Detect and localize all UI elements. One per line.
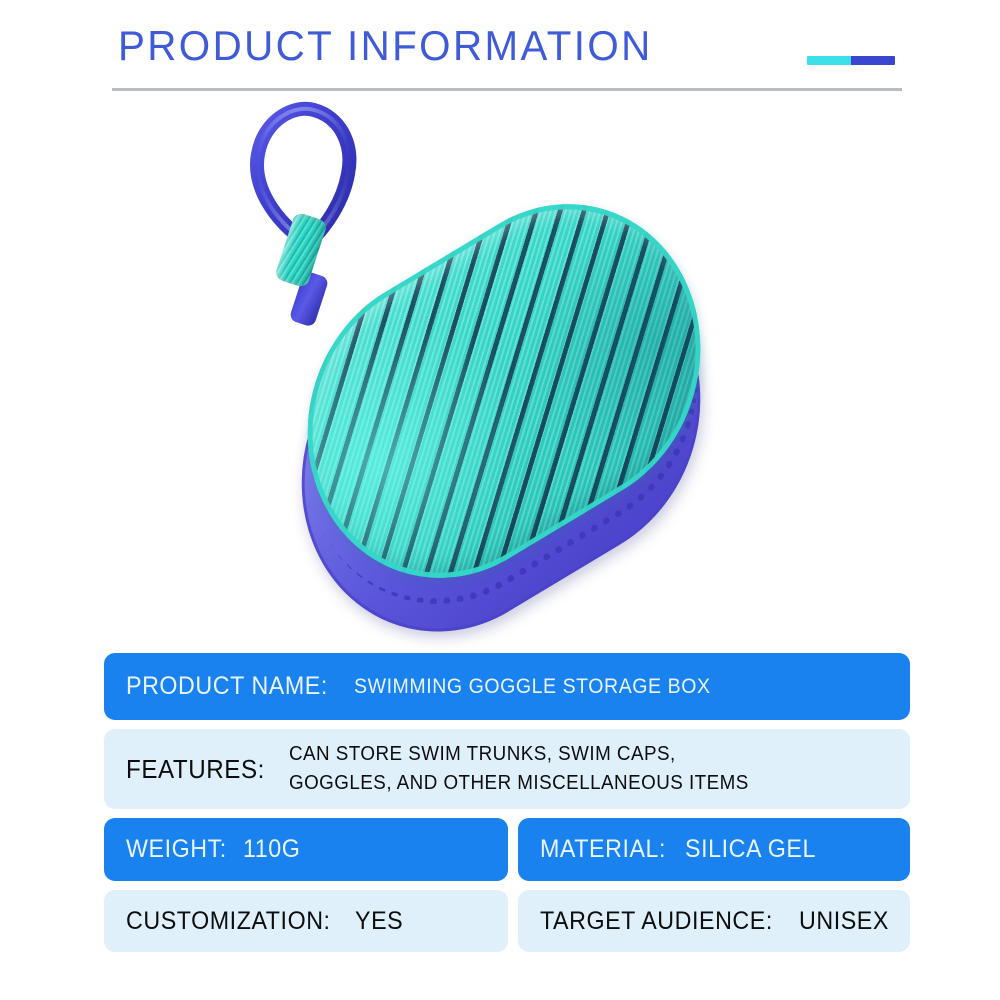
features-line-2: GOGGLES, AND OTHER MISCELLANEOUS ITEMS [289,772,749,795]
header-accent-bar [807,56,895,65]
page-title: PRODUCT INFORMATION [118,22,653,70]
accent-segment-blue [851,56,895,65]
product-name-label: PRODUCT NAME: [126,672,328,701]
target-audience-value: UNISEX [799,907,889,936]
info-row-weight-material: WEIGHT: 110G MATERIAL: SILICA GEL [104,818,910,881]
header-divider [112,88,902,91]
weight-cell: WEIGHT: 110G [104,818,508,881]
material-cell: MATERIAL: SILICA GEL [518,818,910,881]
info-row-features: FEATURES: CAN STORE SWIM TRUNKS, SWIM CA… [104,729,910,809]
product-image [200,95,800,640]
material-label: MATERIAL: [540,835,666,864]
page-header: PRODUCT INFORMATION [0,0,1000,100]
target-audience-cell: TARGET AUDIENCE: UNISEX [518,890,910,952]
info-row-product-name: PRODUCT NAME: SWIMMING GOGGLE STORAGE BO… [104,653,910,720]
features-line-1: CAN STORE SWIM TRUNKS, SWIM CAPS, [289,743,749,766]
product-name-cell: PRODUCT NAME: SWIMMING GOGGLE STORAGE BO… [104,653,910,720]
accent-segment-cyan [807,56,851,65]
features-label: FEATURES: [126,754,265,785]
customization-value: YES [355,907,403,936]
material-value: SILICA GEL [685,835,816,864]
weight-value: 110G [243,835,300,864]
features-cell: FEATURES: CAN STORE SWIM TRUNKS, SWIM CA… [104,729,910,809]
features-value: CAN STORE SWIM TRUNKS, SWIM CAPS, GOGGLE… [289,743,778,795]
customization-label: CUSTOMIZATION: [126,907,331,936]
product-info-table: PRODUCT NAME: SWIMMING GOGGLE STORAGE BO… [104,653,910,961]
target-audience-label: TARGET AUDIENCE: [540,907,773,936]
product-name-value: SWIMMING GOGGLE STORAGE BOX [354,675,711,699]
info-row-customization-audience: CUSTOMIZATION: YES TARGET AUDIENCE: UNIS… [104,890,910,952]
customization-cell: CUSTOMIZATION: YES [104,890,508,952]
weight-label: WEIGHT: [126,835,227,864]
